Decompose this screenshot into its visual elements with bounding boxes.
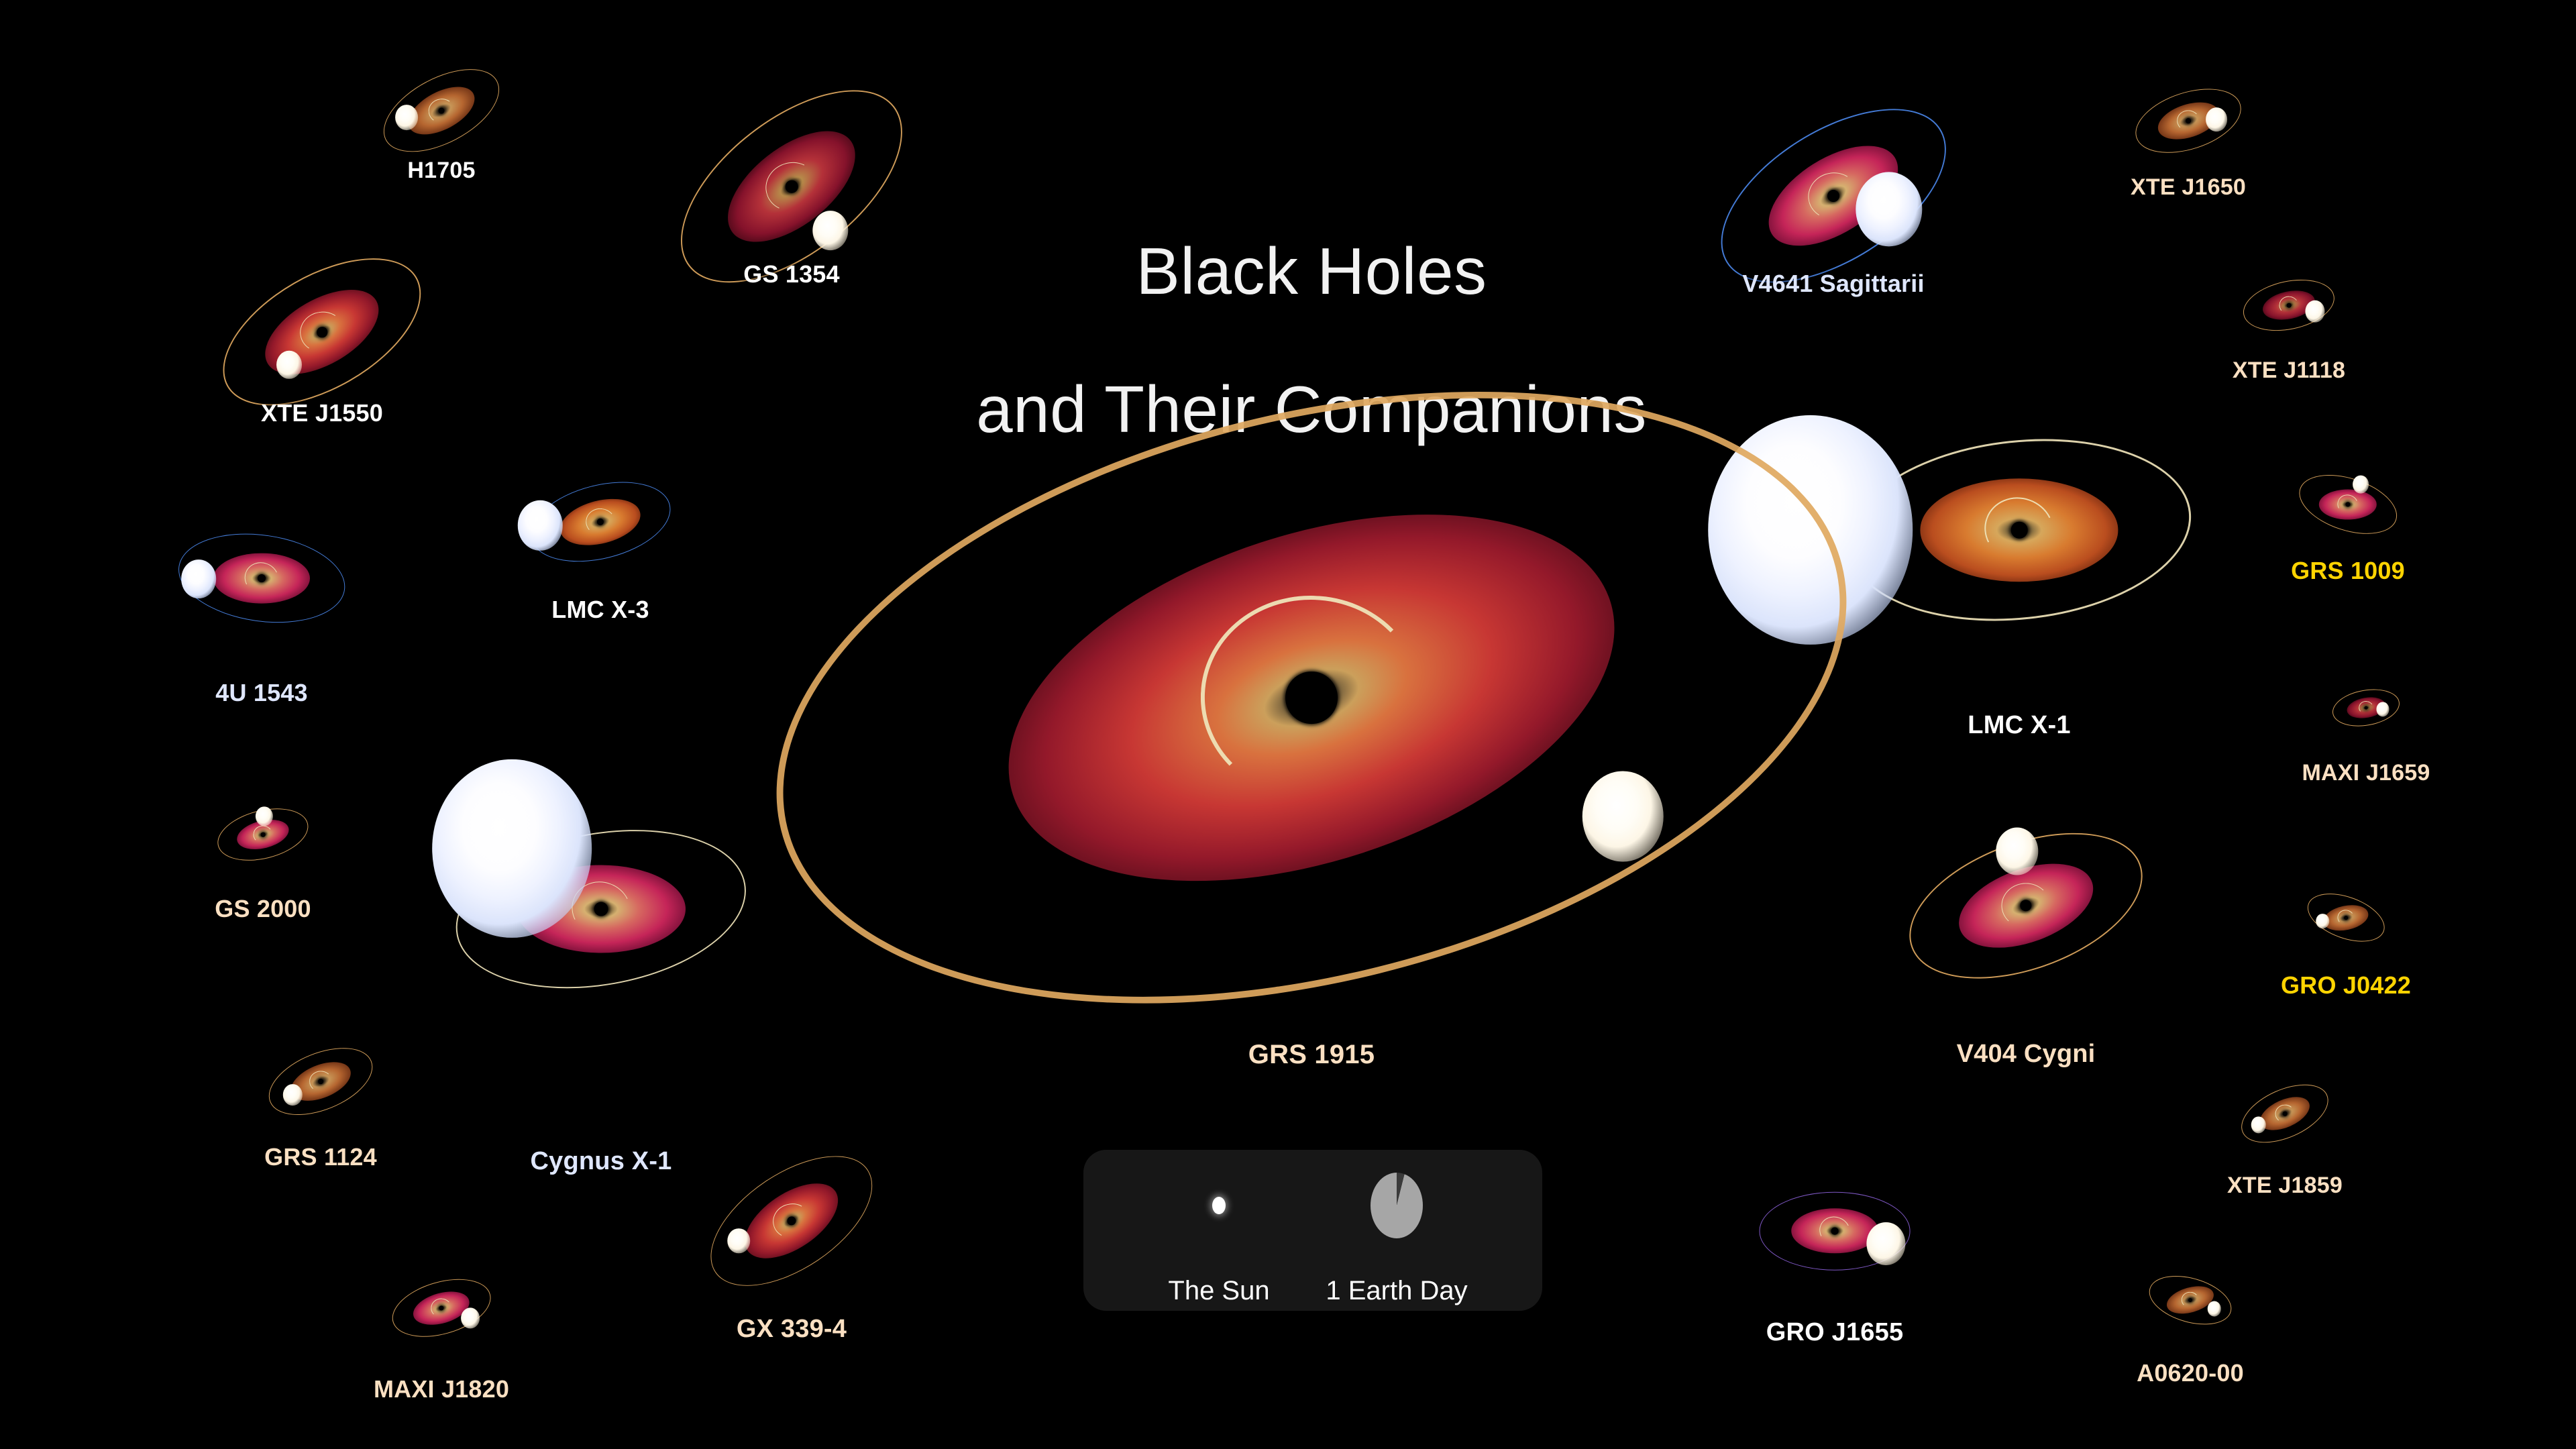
system-label-cygnusx1: Cygnus X-1	[530, 1147, 672, 1176]
black-hole-grs1124	[318, 1079, 323, 1084]
companion-star-grs1124	[283, 1085, 302, 1106]
companion-star-xtej1650	[2206, 107, 2227, 131]
system-label-groj1655: GRO J1655	[1766, 1318, 1904, 1347]
system-label-grs1124: GRS 1124	[264, 1143, 377, 1171]
companion-star-xtej1550	[276, 351, 302, 379]
companion-star-groj1655	[1867, 1222, 1905, 1265]
system-label-maxij1820: MAXI J1820	[374, 1375, 509, 1403]
system-label-gs2000: GS 2000	[215, 895, 311, 923]
black-hole-v4641	[1827, 190, 1839, 202]
companion-star-h1705	[395, 105, 418, 130]
system-label-xtej1650: XTE J1650	[2131, 174, 2246, 201]
companion-star-grs1915	[1582, 771, 1664, 861]
companion-star-v4641	[1856, 172, 1922, 246]
system-label-grs1009: GRS 1009	[2291, 557, 2405, 585]
system-label-gx339: GX 339-4	[737, 1315, 847, 1344]
companion-star-cygnusx1	[432, 759, 592, 938]
scale-legend: The Sun 1 Earth Day	[1083, 1150, 1542, 1311]
black-hole-cygnusx1	[594, 902, 608, 916]
legend-item-sun: The Sun	[1135, 1155, 1303, 1306]
legend-label-sun: The Sun	[1168, 1276, 1269, 1306]
page-title-line-1: Black Holes	[976, 237, 1647, 306]
companion-star-maxij1820	[461, 1308, 480, 1329]
black-hole-maxij1659	[2365, 706, 2368, 710]
companion-star-groj0422	[2316, 914, 2329, 928]
black-hole-4u1543	[258, 574, 266, 582]
system-label-h1705: H1705	[407, 158, 475, 184]
companion-star-4u1543	[181, 559, 216, 598]
black-hole-lmcx1	[2011, 522, 2028, 539]
infographic-canvas: Black Holes and Their Companions H1705GS…	[0, 0, 2576, 1449]
companion-star-grs1009	[2353, 476, 2369, 494]
black-hole-xtej1859	[2283, 1112, 2288, 1116]
system-label-xtej1859: XTE J1859	[2227, 1173, 2343, 1199]
black-hole-h1705	[439, 108, 445, 114]
black-hole-grs1915	[1285, 672, 1338, 724]
black-hole-xtej1650	[2186, 118, 2191, 123]
black-hole-gs2000	[261, 833, 266, 837]
black-hole-gs1354	[786, 180, 798, 193]
system-label-grs1915: GRS 1915	[1248, 1040, 1375, 1070]
companion-star-gs1354	[812, 211, 848, 251]
system-label-gs1354: GS 1354	[743, 260, 840, 288]
system-label-xtej1550: XTE J1550	[261, 399, 383, 427]
black-hole-groj0422	[2344, 916, 2348, 920]
black-hole-xtej1550	[317, 327, 327, 337]
earth-day-pie-icon	[1371, 1155, 1423, 1256]
system-label-v4641: V4641 Sagittarii	[1742, 270, 1924, 298]
black-hole-a0620	[2188, 1298, 2192, 1302]
black-hole-xtej1118	[2287, 303, 2292, 308]
system-label-lmcx1: LMC X-1	[1968, 711, 2070, 740]
system-label-xtej1118: XTE J1118	[2233, 358, 2345, 384]
system-label-maxij1659: MAXI J1659	[2302, 760, 2430, 786]
companion-star-gx339	[728, 1228, 751, 1254]
sun-dot-icon	[1212, 1155, 1226, 1256]
companion-star-xtej1859	[2251, 1116, 2266, 1133]
system-label-4u1543: 4U 1543	[215, 679, 308, 707]
companion-star-v404cygni	[1996, 828, 2038, 875]
legend-item-earth-day: 1 Earth Day	[1303, 1155, 1491, 1306]
black-hole-groj1655	[1831, 1228, 1839, 1235]
companion-star-xtej1118	[2306, 301, 2325, 323]
legend-label-earth-day: 1 Earth Day	[1326, 1276, 1467, 1306]
system-label-groj0422: GRO J0422	[2281, 971, 2411, 1000]
system-label-lmcx3: LMC X-3	[551, 596, 649, 624]
system-label-v404cygni: V404 Cygni	[1957, 1040, 2096, 1069]
companion-star-a0620	[2207, 1301, 2221, 1316]
system-label-a0620: A0620-00	[2137, 1359, 2244, 1387]
